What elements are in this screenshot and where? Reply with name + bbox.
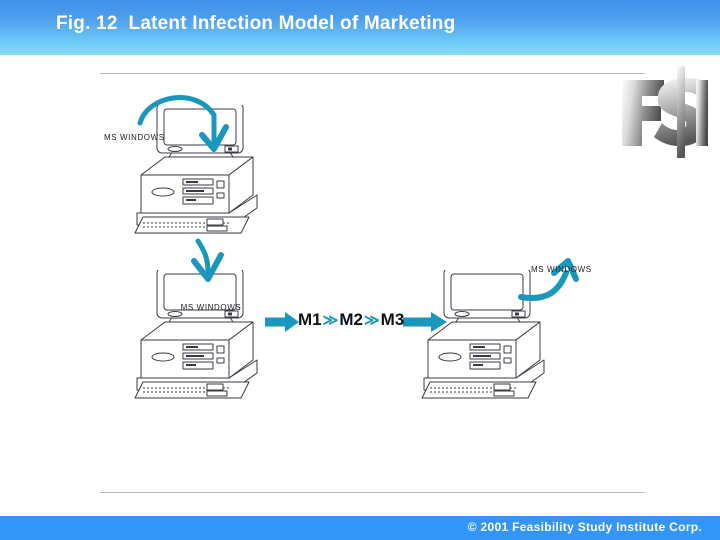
arrow-top-to-middle	[194, 241, 221, 279]
label-ms-windows-left: MS WINDOWS	[104, 133, 165, 142]
label-ms-windows-screen: MS WINDOWS	[173, 303, 249, 312]
model-chain: M1 ≫ M2 ≫ M3	[298, 310, 404, 330]
chain-item-m3: M3	[381, 310, 405, 330]
chain-item-m2: M2	[339, 310, 363, 330]
label-ms-windows-right: MS WINDOWS	[531, 265, 592, 274]
chain-separator-1: ≫	[323, 311, 339, 329]
copyright-notice: © 2001 Feasibility Study Institute Corp.	[468, 520, 702, 534]
arrow-chain-to-right	[403, 312, 447, 332]
arrow-middle-to-chain	[265, 312, 299, 332]
chain-separator-2: ≫	[364, 311, 380, 329]
divider-bottom	[100, 492, 645, 493]
divider-top	[100, 73, 645, 74]
chain-item-m1: M1	[298, 310, 322, 330]
page-title: Fig. 12 Latent Infection Model of Market…	[56, 13, 455, 35]
diagram-canvas: MS WINDOWS MS WINDOWS MS WINDOWS M1 ≫ M2…	[0, 75, 720, 490]
